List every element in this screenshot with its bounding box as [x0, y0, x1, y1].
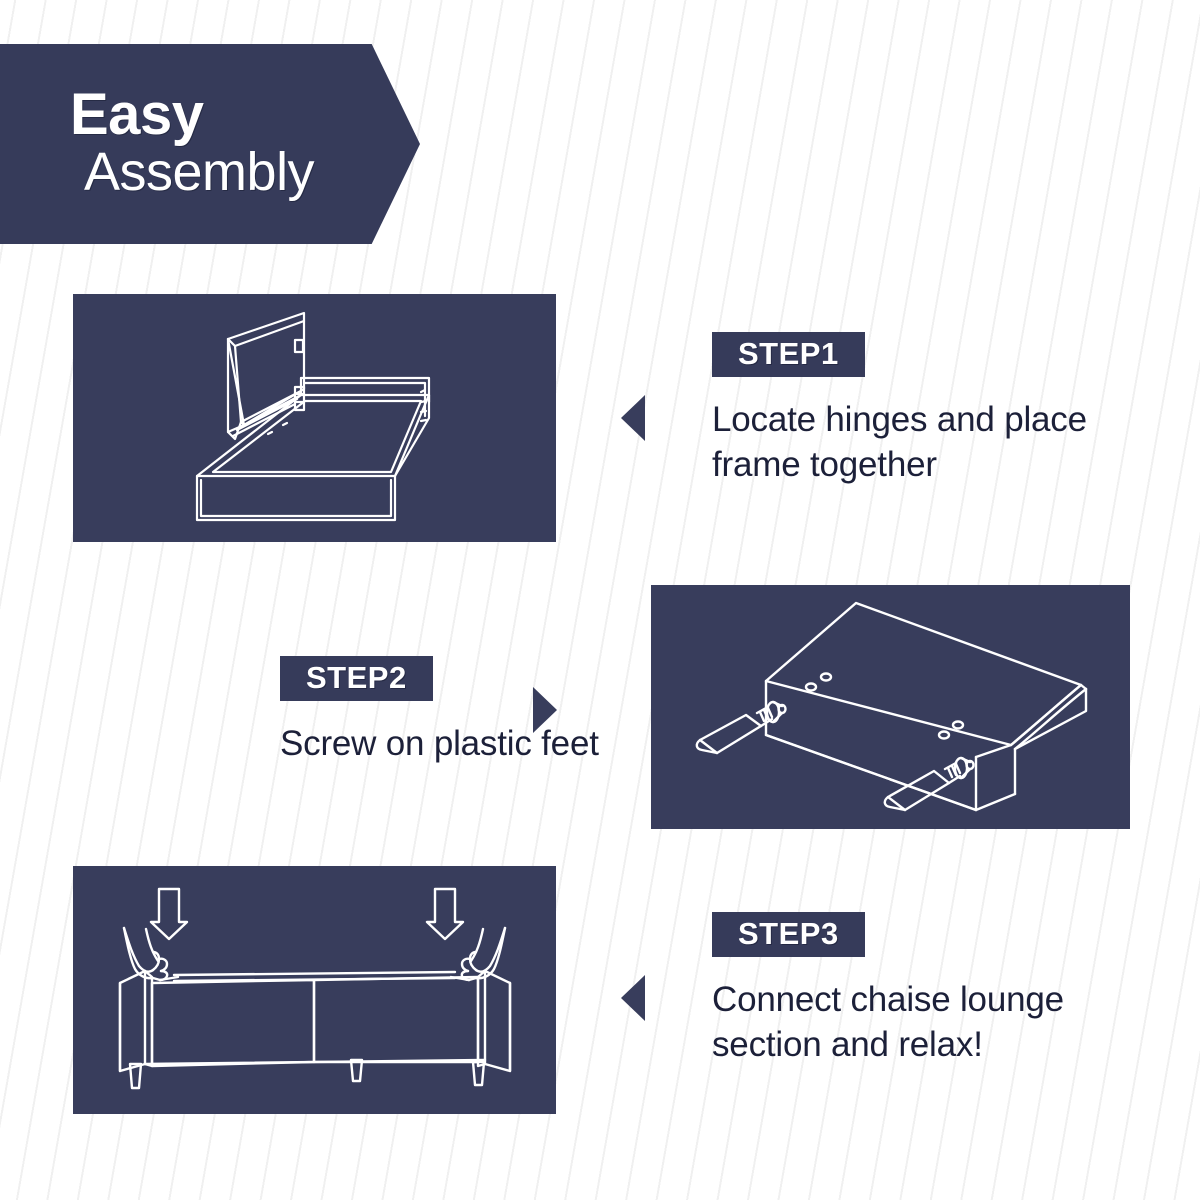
header-banner: Easy Assembly [0, 44, 420, 244]
step-badge-2: STEP2 [280, 656, 433, 701]
sofa-connect-hands-drawing [73, 866, 556, 1114]
step-block-3: STEP3 Connect chaise lounge section and … [712, 912, 1142, 1068]
step-description-3: Connect chaise lounge section and relax! [712, 978, 1142, 1068]
step-description-2: Screw on plastic feet [280, 722, 680, 767]
illustration-panel-step-3 [73, 866, 556, 1114]
step-badge-3: STEP3 [712, 912, 865, 957]
illustration-panel-step-2 [651, 585, 1130, 829]
arrow-left-icon-step-1 [621, 395, 645, 441]
infographic-canvas: Easy Assembly [0, 0, 1200, 1200]
step-description-1: Locate hinges and place frame together [712, 398, 1142, 488]
header-title-secondary: Assembly [84, 143, 420, 201]
arrow-left-icon-step-3 [621, 975, 645, 1021]
illustration-panel-step-1 [73, 294, 556, 542]
sofa-base-plastic-feet-drawing [651, 585, 1130, 829]
step-block-2: STEP2 Screw on plastic feet [280, 656, 680, 767]
step-block-1: STEP1 Locate hinges and place frame toge… [712, 332, 1142, 488]
step-badge-1: STEP1 [712, 332, 865, 377]
header-title-primary: Easy [70, 87, 420, 143]
sofa-frame-hinge-drawing [73, 294, 556, 542]
